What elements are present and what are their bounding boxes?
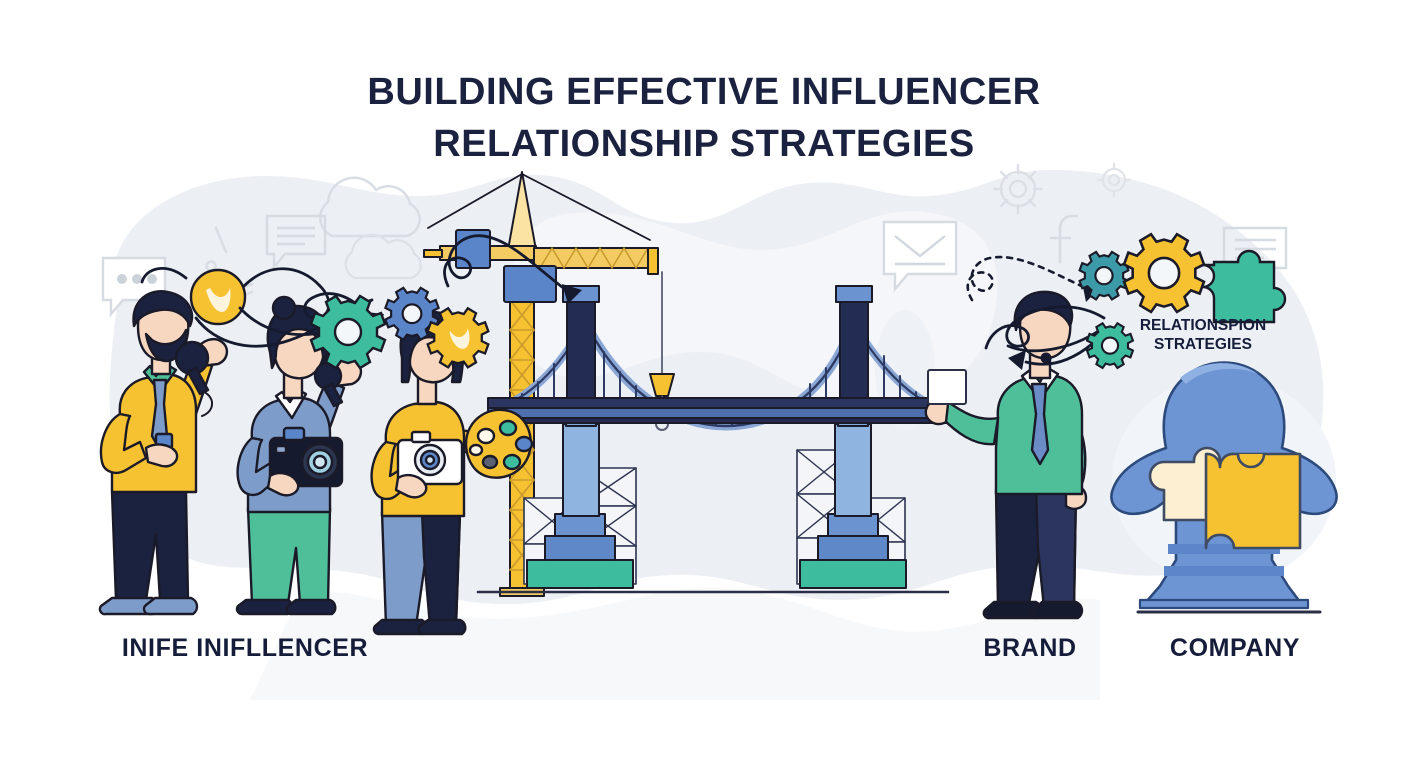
yellow-gear-icon	[428, 308, 489, 367]
dot-end	[1041, 353, 1052, 364]
note-line-1: RELATIONSPION	[1128, 316, 1278, 335]
yellow-gear-right-icon	[1124, 234, 1204, 312]
arrow-head-3	[562, 284, 582, 304]
green-puzzle-piece-icon	[1203, 251, 1285, 322]
teal-gear-icon	[311, 296, 385, 368]
swirl-arrow-2-icon	[445, 236, 566, 290]
relationship-strategies-note: RELATIONSPION STRATEGIES	[1128, 316, 1278, 354]
label-influencer: INIFE INIFLLENCER	[0, 634, 490, 663]
teal-gear-small-right-icon	[1087, 323, 1133, 368]
yellow-badge-check-icon	[191, 270, 245, 324]
arrow-head-right	[1008, 350, 1026, 370]
label-company: COMPANY	[1115, 634, 1355, 663]
illustration-canvas: BUILDING EFFECTIVE INFLUENCER RELATIONSH…	[0, 0, 1408, 768]
note-line-2: STRATEGIES	[1128, 335, 1278, 354]
dashed-swirl-arrow-icon	[968, 257, 1086, 300]
